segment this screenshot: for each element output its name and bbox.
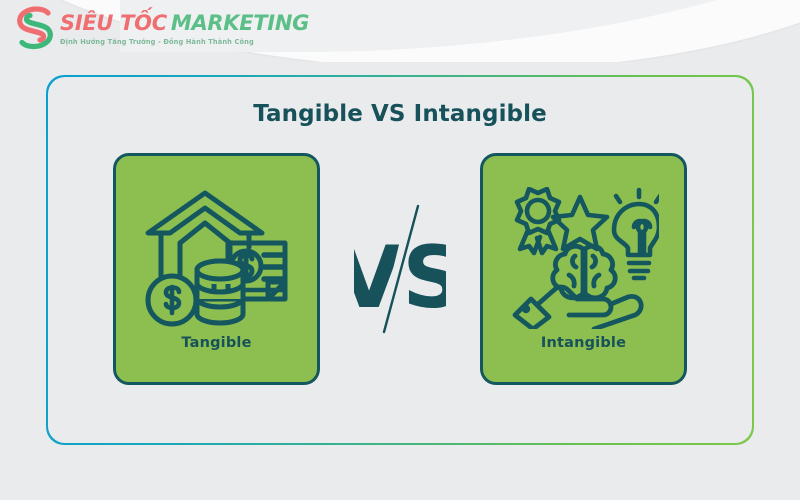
award-ribbon-icon bbox=[517, 189, 559, 253]
vs-label: VS bbox=[354, 228, 446, 328]
star-icon bbox=[553, 197, 607, 249]
house-roof-icon bbox=[148, 193, 262, 233]
brand-tagline: Định Hướng Tăng Trưởng - Đồng Hành Thành… bbox=[60, 39, 309, 46]
swoosh-s-logo-icon bbox=[14, 6, 56, 50]
gradient-panel-frame: Tangible VS Intangible bbox=[46, 75, 754, 445]
page-header: SIÊU TỐCMARKETING Định Hướng Tăng Trưởng… bbox=[0, 0, 800, 62]
vs-separator: VS bbox=[354, 204, 446, 334]
brand-logo[interactable]: SIÊU TỐCMARKETING Định Hướng Tăng Trưởng… bbox=[14, 6, 309, 50]
lightbulb-icon bbox=[614, 190, 659, 278]
intangible-card[interactable]: Intangible bbox=[480, 153, 687, 385]
tangible-card-label: Tangible bbox=[181, 335, 251, 351]
comparison-panel: Tangible VS Intangible bbox=[48, 77, 753, 444]
brand-text-block: SIÊU TỐCMARKETING Định Hướng Tăng Trưởng… bbox=[60, 10, 309, 46]
tangible-card[interactable]: Tangible bbox=[113, 153, 320, 385]
comparison-cards-row: Tangible VS bbox=[48, 149, 753, 389]
brand-title: SIÊU TỐCMARKETING bbox=[60, 13, 309, 34]
open-hand-icon bbox=[515, 287, 641, 329]
intangible-illustration bbox=[509, 187, 659, 329]
coin-stack-icon bbox=[197, 261, 243, 323]
brand-title-part1: SIÊU TỐC bbox=[60, 11, 167, 35]
brain-icon bbox=[552, 246, 614, 298]
brand-title-part2: MARKETING bbox=[171, 11, 309, 35]
page-title: Tangible VS Intangible bbox=[48, 101, 753, 127]
vs-separator-icon: VS bbox=[354, 204, 446, 334]
tangible-illustration bbox=[142, 187, 292, 329]
intangible-card-label: Intangible bbox=[541, 335, 626, 351]
